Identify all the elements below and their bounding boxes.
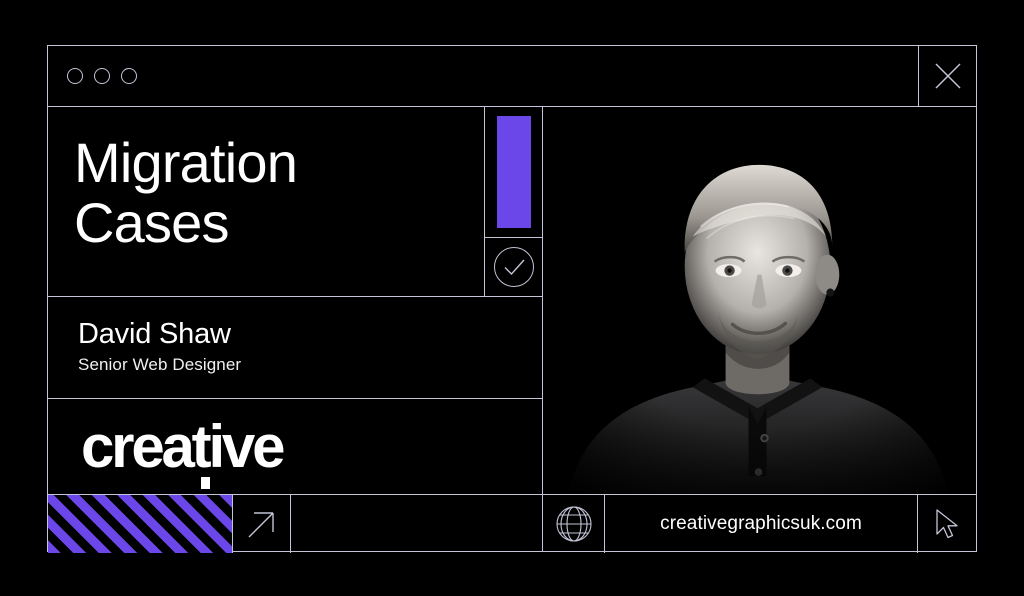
right-column: creativegraphicsuk.com — [543, 107, 976, 551]
circle-check-icon — [494, 247, 534, 287]
barcode-bar — [497, 192, 531, 200]
cursor-arrow-icon — [930, 507, 964, 541]
logo-row: creative — [48, 399, 542, 495]
brand-logo: creative — [81, 417, 282, 477]
barcode-icon — [497, 116, 531, 228]
arrow-up-right-icon — [245, 507, 279, 541]
globe-button[interactable] — [543, 495, 605, 553]
close-icon — [933, 61, 963, 91]
website-url-cell[interactable]: creativegraphicsuk.com — [605, 495, 918, 553]
barcode-bar — [497, 225, 531, 228]
barcode-cell — [485, 107, 542, 238]
website-url: creativegraphicsuk.com — [660, 513, 862, 535]
title-bar — [48, 46, 976, 107]
window-dot-1[interactable] — [67, 68, 83, 84]
left-column: Migration Cases — [48, 107, 543, 551]
bottom-row — [48, 495, 542, 553]
window-dot-2[interactable] — [94, 68, 110, 84]
barcode-bar — [497, 157, 531, 166]
business-card-canvas: Migration Cases — [0, 0, 1024, 596]
close-button[interactable] — [918, 46, 976, 106]
check-cell[interactable] — [485, 238, 542, 295]
brand-logo-text: creative — [81, 413, 282, 480]
side-icon-stack — [484, 107, 542, 296]
window-frame: Migration Cases — [47, 45, 977, 552]
window-controls — [67, 68, 137, 84]
footer-row: creativegraphicsuk.com — [543, 495, 976, 553]
page-title: Migration Cases — [74, 133, 464, 253]
headline-row: Migration Cases — [48, 107, 542, 297]
cursor-cell[interactable] — [918, 495, 976, 553]
window-body: Migration Cases — [48, 107, 976, 551]
person-name: David Shaw — [78, 317, 542, 351]
barcode-bar — [497, 137, 531, 145]
bottom-empty-cell — [291, 495, 542, 553]
person-row: David Shaw Senior Web Designer — [48, 297, 542, 399]
portrait-photo — [543, 107, 976, 495]
person-role: Senior Web Designer — [78, 355, 542, 375]
arrow-up-right-button[interactable] — [233, 495, 291, 553]
window-dot-3[interactable] — [121, 68, 137, 84]
diagonal-stripes — [48, 495, 233, 553]
globe-icon — [555, 505, 593, 543]
logo-i-dot — [201, 477, 210, 489]
barcode-bar — [497, 124, 531, 131]
barcode-bar — [497, 173, 531, 180]
portrait-image — [543, 107, 976, 494]
barcode-bar — [497, 207, 531, 214]
